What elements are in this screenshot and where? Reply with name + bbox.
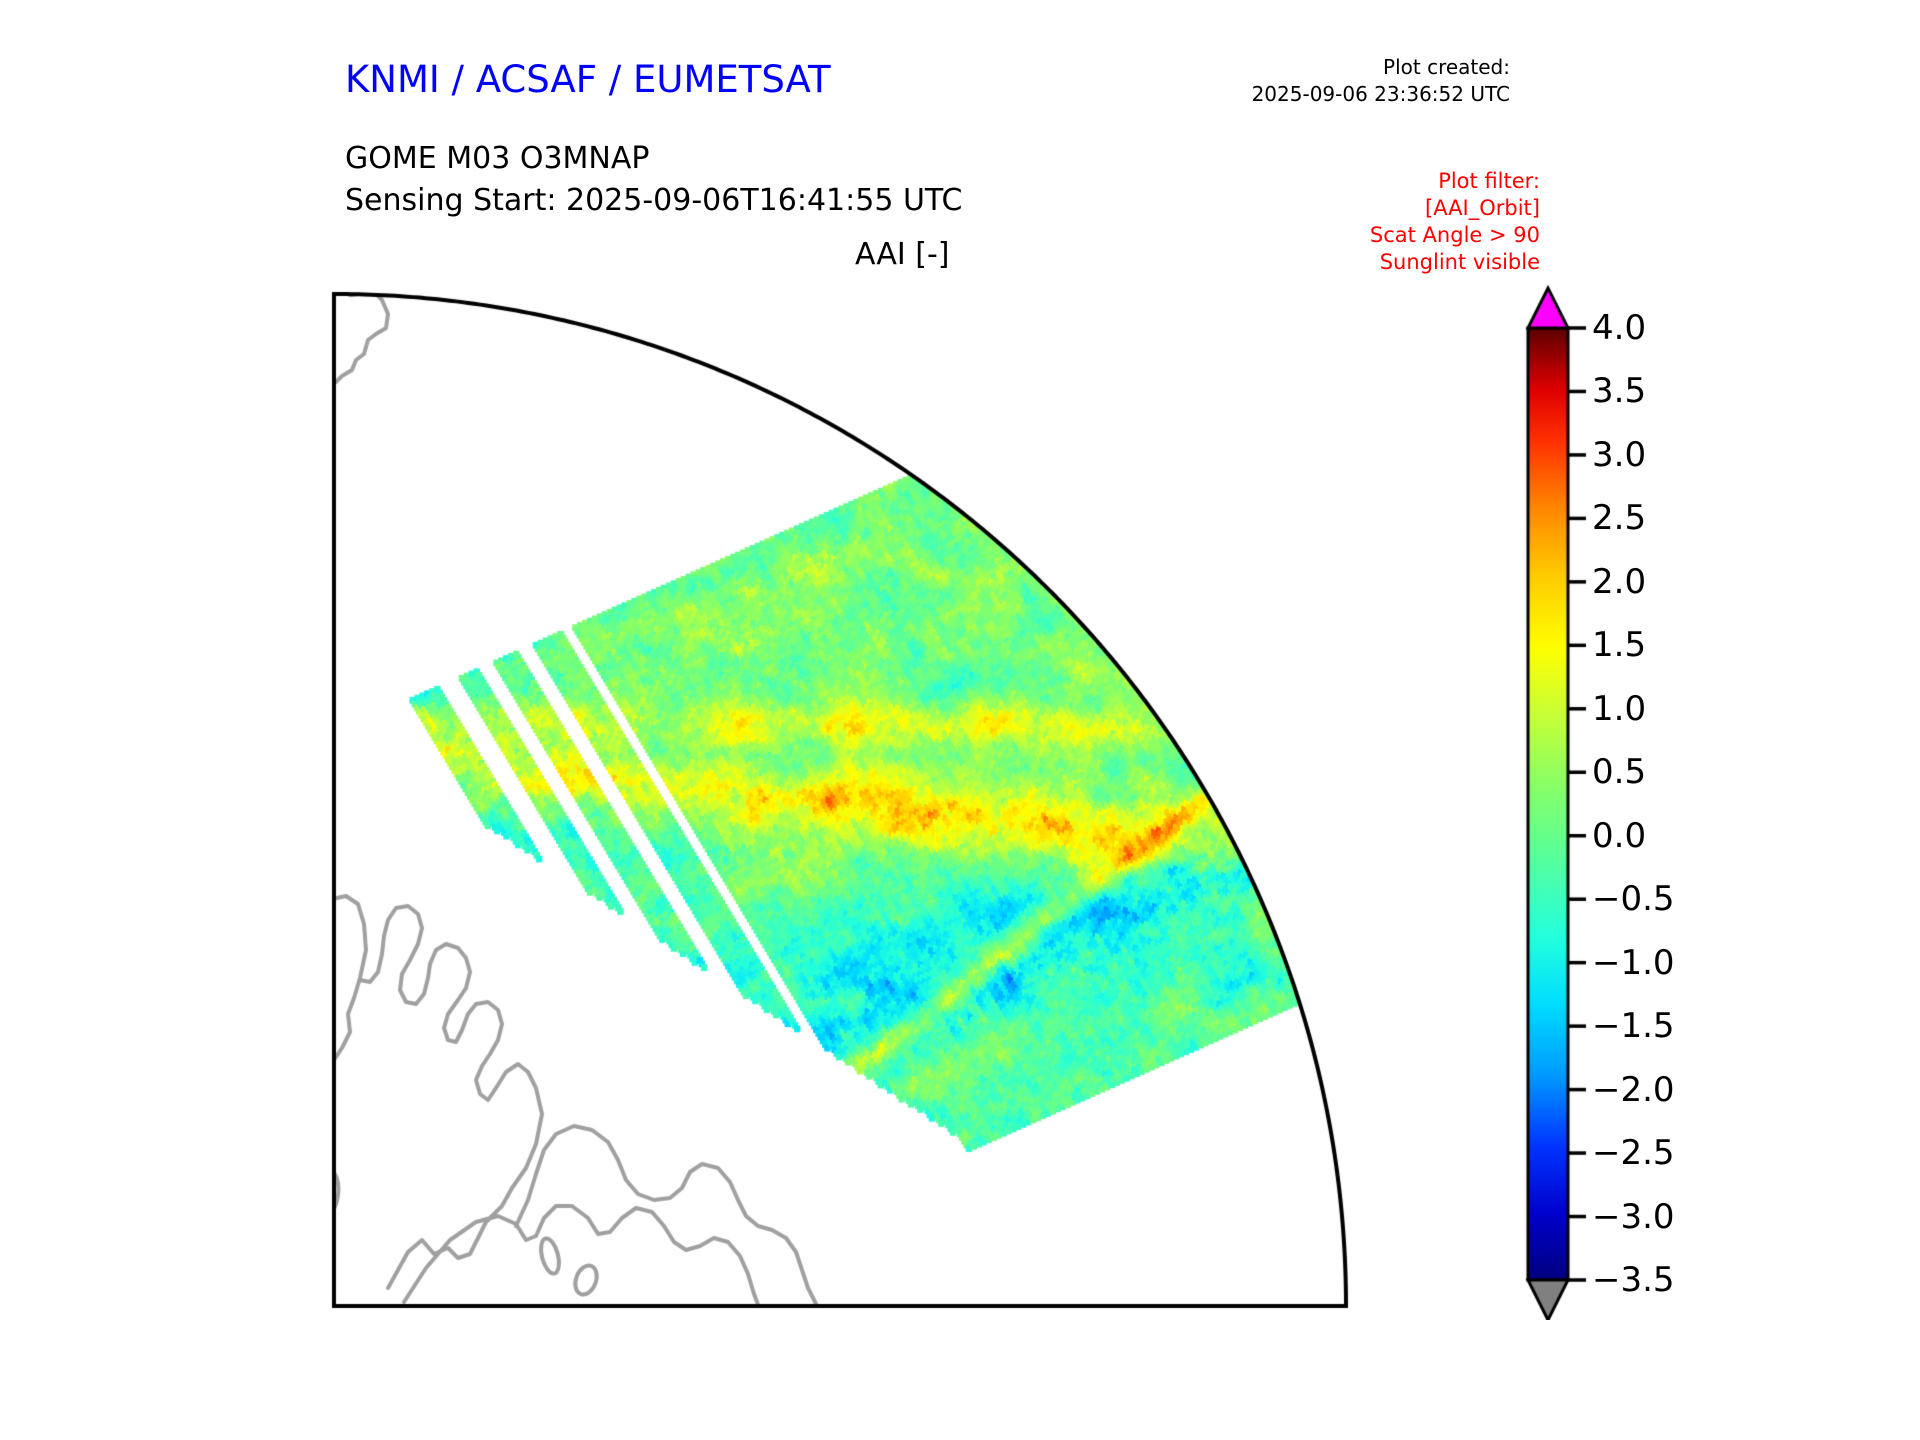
colorbar-tick-9: −0.5 [1592,882,1675,916]
plot-created-block: Plot created: 2025-09-06 23:36:52 UTC [1252,54,1510,108]
colorbar-tick-15: −3.5 [1592,1263,1675,1297]
plot-filter-block: Plot filter: [AAI_Orbit] Scat Angle > 90… [1370,168,1540,276]
colorbar-tick-1: 3.5 [1592,374,1646,408]
colorbar-tick-4: 2.0 [1592,565,1646,599]
colorbar-tick-3: 2.5 [1592,501,1646,535]
sensing-start-line: Sensing Start: 2025-09-06T16:41:55 UTC [345,180,962,222]
organisation-title: KNMI / ACSAF / EUMETSAT [345,58,831,101]
plot-created-label: Plot created: [1252,54,1510,81]
plot-filter-label: Plot filter: [1370,168,1540,195]
colorbar-tick-2: 3.0 [1592,438,1646,472]
plot-page: KNMI / ACSAF / EUMETSAT Plot created: 20… [0,0,1920,1440]
colorbar-tick-10: −1.0 [1592,946,1675,980]
variable-title: AAI [-] [855,237,950,272]
instrument-product-line: GOME M03 O3MNAP [345,138,962,180]
colorbar-tick-11: −1.5 [1592,1009,1675,1043]
plot-created-timestamp: 2025-09-06 23:36:52 UTC [1252,81,1510,108]
aai-swath-map [330,288,1505,1310]
plot-filter-name: [AAI_Orbit] [1370,195,1540,222]
colorbar-tick-8: 0.0 [1592,819,1646,853]
colorbar-area: 4.03.53.02.52.01.51.00.50.0−0.5−1.0−1.5−… [1520,280,1810,1320]
colorbar-tick-12: −2.0 [1592,1073,1675,1107]
plot-filter-scat-angle: Scat Angle > 90 [1370,222,1540,249]
colorbar-tick-13: −2.5 [1592,1136,1675,1170]
colorbar-tick-7: 0.5 [1592,755,1646,789]
colorbar-tick-5: 1.5 [1592,628,1646,662]
plot-filter-sunglint: Sunglint visible [1370,249,1540,276]
product-info-block: GOME M03 O3MNAP Sensing Start: 2025-09-0… [345,138,962,222]
colorbar-tick-6: 1.0 [1592,692,1646,726]
colorbar-tick-14: −3.0 [1592,1200,1675,1234]
colorbar-tick-labels: 4.03.53.02.52.01.51.00.50.0−0.5−1.0−1.5−… [1592,280,1792,1320]
map-plot-area [330,288,1505,1310]
colorbar-tick-0: 4.0 [1592,311,1646,345]
